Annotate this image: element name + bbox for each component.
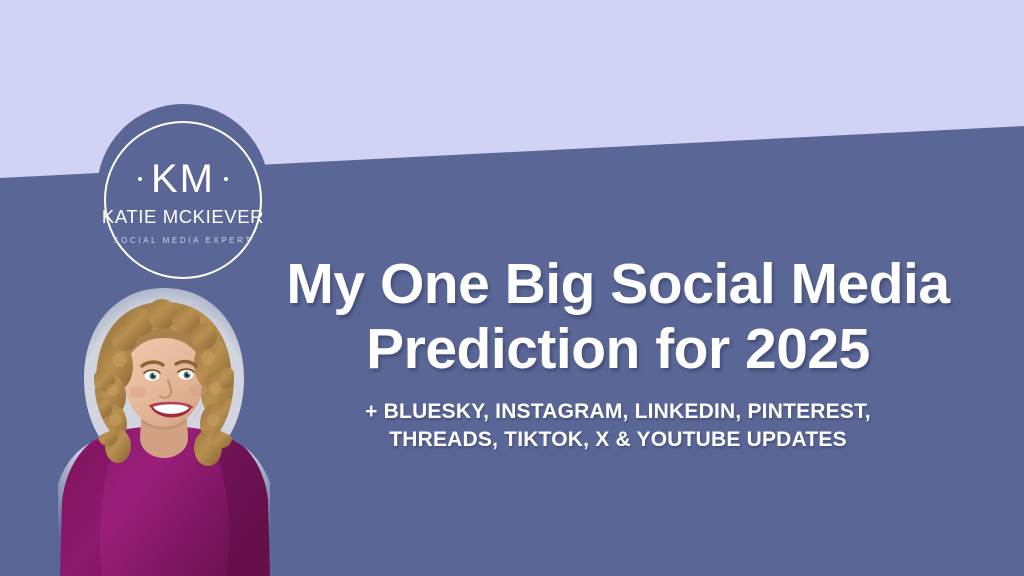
subheadline-line-2: THREADS, TIKTOK, X & YOUTUBE UPDATES [268,426,968,454]
subheadline-block: + BLUESKY, INSTAGRAM, LINKEDIN, PINTERES… [268,398,968,455]
logo-monogram: KM [138,159,228,199]
headline-line-2: Prediction for 2025 [268,317,968,382]
logo-name: KATIE MCKIEVER [102,208,264,227]
dot-icon [224,177,228,181]
subheadline-line-1: + BLUESKY, INSTAGRAM, LINKEDIN, PINTERES… [268,398,968,426]
headline-block: My One Big Social Media Prediction for 2… [268,252,968,382]
promo-banner: KM KATIE MCKIEVER SOCIAL MEDIA EXPERT [0,0,1024,576]
headline-line-1: My One Big Social Media [268,252,968,317]
logo-tagline: SOCIAL MEDIA EXPERT [113,237,253,245]
dot-icon [138,177,142,181]
logo-badge: KM KATIE MCKIEVER SOCIAL MEDIA EXPERT [104,121,262,279]
portrait-photo [58,288,270,576]
logo-monogram-text: KM [151,159,215,199]
